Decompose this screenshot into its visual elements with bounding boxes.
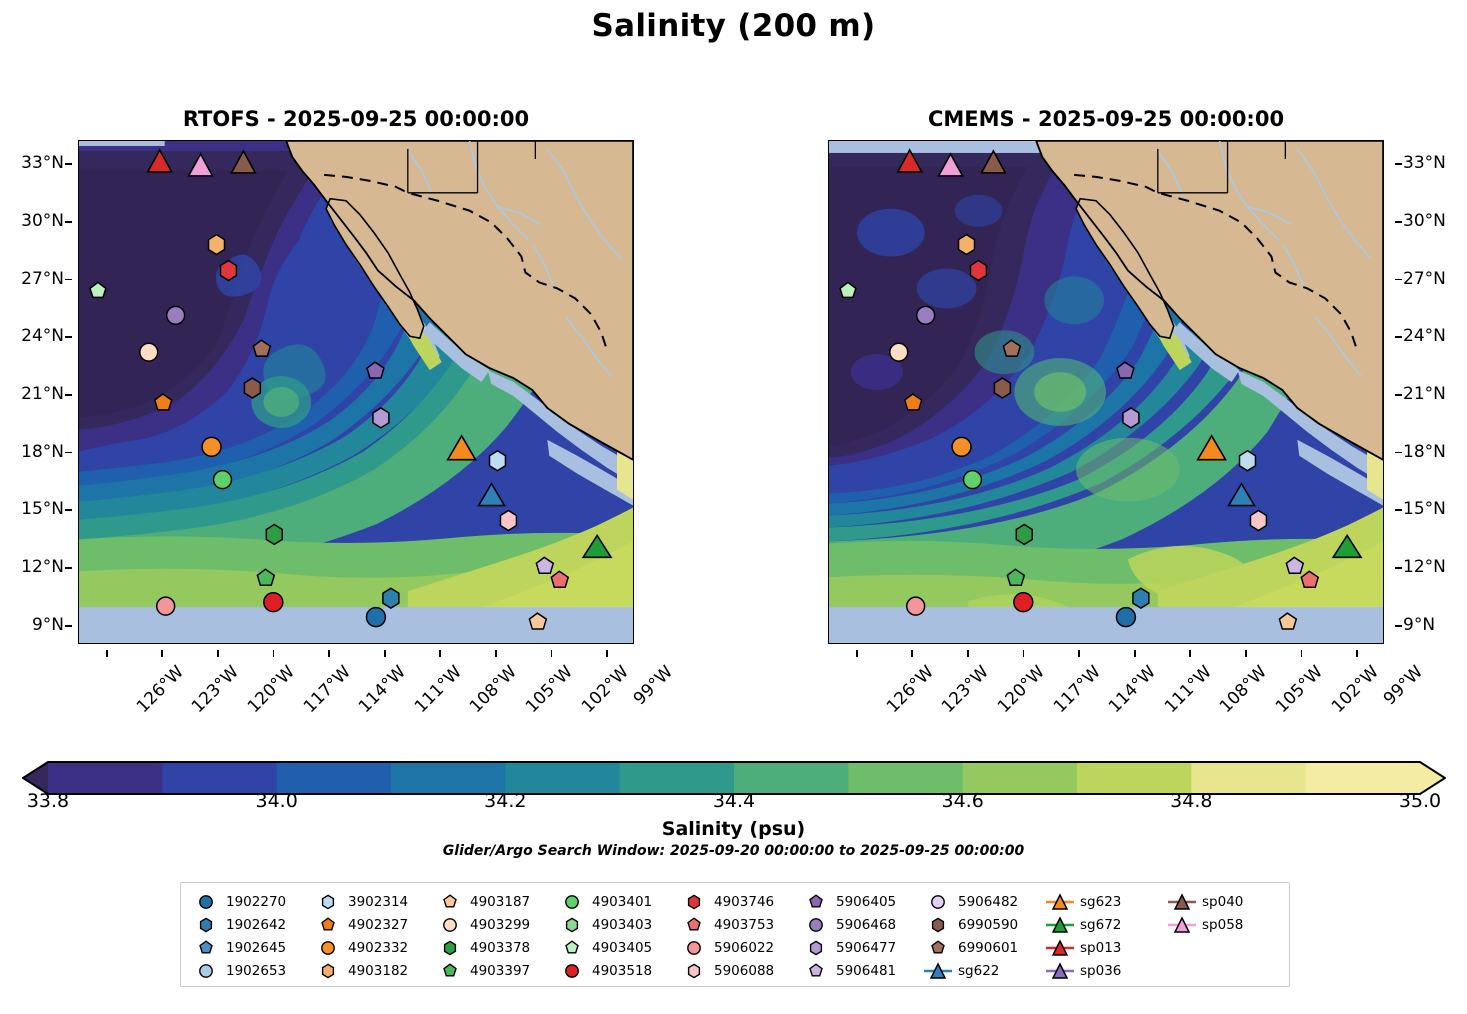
legend-item-label: sp013 — [1080, 940, 1121, 956]
legend-item-label: 5906477 — [836, 940, 896, 956]
marker-3902314 — [1240, 451, 1256, 471]
legend-item-label: 5906405 — [836, 894, 896, 910]
legend-item-label: 5906481 — [836, 963, 896, 979]
legend-item-3902314[interactable]: 3902314 — [309, 890, 431, 913]
xtick-mark — [1189, 650, 1191, 657]
map-rtofs-svg — [79, 141, 633, 643]
legend-item-1902642[interactable]: 1902642 — [187, 913, 309, 936]
ytick-mark — [65, 394, 72, 396]
marker-circle-icon — [923, 892, 953, 912]
legend-item-label: 4903753 — [714, 917, 774, 933]
marker-pentagon-icon — [557, 938, 587, 958]
ytick-mark — [65, 509, 72, 511]
legend-item-label: 5906468 — [836, 917, 896, 933]
marker-hexagon-icon — [313, 961, 343, 981]
legend-item-label: 4903518 — [592, 963, 652, 979]
ytick-label: 33°N — [21, 153, 64, 173]
xtick-label: 114°W — [1105, 662, 1160, 717]
colorbar-tick-label: 33.8 — [27, 790, 69, 812]
legend-item-5906477[interactable]: 5906477 — [797, 936, 919, 959]
legend-item-label: 4903187 — [470, 894, 530, 910]
marker-pentagon-icon — [801, 892, 831, 912]
xtick-label: 99°W — [1380, 662, 1427, 709]
ytick-mark — [1395, 567, 1402, 569]
legend-item-label: sp058 — [1202, 917, 1243, 933]
legend-item-label: sp036 — [1080, 963, 1121, 979]
marker-5906088 — [500, 511, 516, 531]
legend-item-label: 4903397 — [470, 963, 530, 979]
marker-4903182 — [209, 235, 225, 255]
legend-item-4903753[interactable]: 4903753 — [675, 913, 797, 936]
xtick-mark — [1356, 650, 1358, 657]
legend-item-5906022[interactable]: 5906022 — [675, 936, 797, 959]
marker-circle-icon — [679, 938, 709, 958]
legend-item-label: 4902332 — [348, 940, 408, 956]
marker-triangle-line-icon — [1045, 938, 1075, 958]
legend-item-label: 6990601 — [958, 940, 1018, 956]
ytick-label: 18°N — [1403, 442, 1446, 462]
legend-item-5906088[interactable]: 5906088 — [675, 959, 797, 982]
marker-hexagon-icon — [435, 938, 465, 958]
marker-4903401 — [964, 471, 982, 489]
xtick-label: 105°W — [1272, 662, 1327, 717]
legend-item-5906405[interactable]: 5906405 — [797, 890, 919, 913]
figure-canvas: Salinity (200 m) RTOFS - 2025-09-25 00:0… — [0, 0, 1467, 1014]
legend-item-1902270[interactable]: 1902270 — [187, 890, 309, 913]
xtick-mark — [856, 650, 858, 657]
legend-item-label: 5906088 — [714, 963, 774, 979]
marker-circle-icon — [313, 938, 343, 958]
yaxis-left: 33°N30°N27°N24°N21°N18°N15°N12°N9°N — [2, 140, 72, 644]
marker-4902332 — [202, 437, 221, 456]
xtick-label: 126°W — [883, 662, 938, 717]
ytick-mark — [1395, 336, 1402, 338]
legend-item-label: 1902653 — [226, 963, 286, 979]
xtick-mark — [1023, 650, 1025, 657]
ytick-mark — [1395, 452, 1402, 454]
legend-item-4903182[interactable]: 4903182 — [309, 959, 431, 982]
legend-item-4902327[interactable]: 4902327 — [309, 913, 431, 936]
legend-item-4903397[interactable]: 4903397 — [431, 959, 553, 982]
legend-item-label: 4903299 — [470, 917, 530, 933]
xtick-mark — [495, 650, 497, 657]
xtick-mark — [911, 650, 913, 657]
search-window-text: Glider/Argo Search Window: 2025-09-20 00… — [0, 843, 1467, 859]
marker-hexagon-icon — [679, 892, 709, 912]
marker-5906477 — [373, 408, 389, 428]
legend: 1902270190264219026451902653390231449023… — [180, 882, 1290, 987]
marker-hexagon-icon — [923, 915, 953, 935]
legend-item-4903518[interactable]: 4903518 — [553, 959, 675, 982]
xtick-label: 102°W — [1328, 662, 1383, 717]
marker-4903746 — [970, 261, 986, 281]
legend-item-label: sp040 — [1202, 894, 1243, 910]
xtick-label: 126°W — [133, 662, 188, 717]
xtick-label: 114°W — [355, 662, 410, 717]
ytick-label: 15°N — [21, 499, 64, 519]
ytick-label: 18°N — [21, 442, 64, 462]
ytick-label: 33°N — [1403, 153, 1446, 173]
ytick-mark — [1395, 221, 1402, 223]
marker-hexagon-icon — [801, 938, 831, 958]
legend-item-label: 1902645 — [226, 940, 286, 956]
legend-item-label: 4903378 — [470, 940, 530, 956]
page-title: Salinity (200 m) — [0, 8, 1467, 44]
xtick-mark — [328, 650, 330, 657]
marker-6990590 — [244, 378, 260, 398]
colorbar-tick-label: 34.8 — [1170, 790, 1212, 812]
marker-4903378 — [266, 524, 282, 544]
xtick-label: 123°W — [938, 662, 993, 717]
legend-item-sp040[interactable]: sp040 — [1163, 890, 1285, 913]
yaxis-right: 33°N30°N27°N24°N21°N18°N15°N12°N9°N — [1395, 140, 1465, 644]
legend-item-1902645[interactable]: 1902645 — [187, 936, 309, 959]
marker-3902314 — [490, 451, 506, 471]
marker-circle-icon — [435, 915, 465, 935]
marker-4903299 — [890, 343, 908, 361]
ytick-label: 21°N — [21, 384, 64, 404]
xtick-label: 105°W — [522, 662, 577, 717]
marker-pentagon-icon — [801, 961, 831, 981]
legend-item-1902653[interactable]: 1902653 — [187, 959, 309, 982]
marker-pentagon-icon — [313, 915, 343, 935]
ytick-mark — [1395, 163, 1402, 165]
xtick-mark — [967, 650, 969, 657]
legend-item-label: 1902270 — [226, 894, 286, 910]
marker-triangle-line-icon — [1045, 961, 1075, 981]
legend-item-4903401[interactable]: 4903401 — [553, 890, 675, 913]
marker-hexagon-icon — [313, 892, 343, 912]
legend-item-sg623[interactable]: sg623 — [1041, 890, 1163, 913]
legend-item-label: sg672 — [1080, 917, 1121, 933]
marker-circle-icon — [557, 892, 587, 912]
legend-item-4903299[interactable]: 4903299 — [431, 913, 553, 936]
ytick-label: 15°N — [1403, 499, 1446, 519]
marker-pentagon-icon — [435, 892, 465, 912]
marker-1902270 — [366, 608, 385, 627]
ytick-mark — [65, 625, 72, 627]
marker-triangle-line-icon — [1167, 915, 1197, 935]
xaxis-right: 126°W123°W120°W117°W114°W111°W108°W105°W… — [828, 650, 1384, 740]
legend-item-label: 4903403 — [592, 917, 652, 933]
legend-item-label: 5906482 — [958, 894, 1018, 910]
legend-item-label: 4903401 — [592, 894, 652, 910]
marker-triangle-line-icon — [923, 961, 953, 981]
legend-item-4903746[interactable]: 4903746 — [675, 890, 797, 913]
xtick-label: 108°W — [1216, 662, 1271, 717]
xtick-mark — [1134, 650, 1136, 657]
xtick-mark — [1301, 650, 1303, 657]
ytick-label: 30°N — [1403, 211, 1446, 231]
legend-item-sp036[interactable]: sp036 — [1041, 959, 1163, 982]
ytick-mark — [65, 279, 72, 281]
map-cmems-svg — [829, 141, 1383, 643]
marker-5906477 — [1123, 408, 1139, 428]
ytick-label: 21°N — [1403, 384, 1446, 404]
ytick-label: 27°N — [21, 269, 64, 289]
ytick-mark — [65, 567, 72, 569]
marker-circle-icon — [557, 961, 587, 981]
xtick-mark — [439, 650, 441, 657]
legend-item-label: 4903746 — [714, 894, 774, 910]
marker-4903182 — [959, 235, 975, 255]
colorbar-tick-label: 35.0 — [1399, 790, 1441, 812]
legend-item-label: 1902642 — [226, 917, 286, 933]
legend-item-label: 4902327 — [348, 917, 408, 933]
ytick-mark — [65, 221, 72, 223]
legend-item-6990590[interactable]: 6990590 — [919, 913, 1041, 936]
xtick-label: 117°W — [1050, 662, 1105, 717]
xtick-mark — [161, 650, 163, 657]
legend-item-label: 3902314 — [348, 894, 408, 910]
legend-item-label: 6990590 — [958, 917, 1018, 933]
xtick-label: 111°W — [1161, 662, 1216, 717]
ytick-mark — [1395, 625, 1402, 627]
marker-5906468 — [917, 306, 935, 324]
xtick-label: 102°W — [578, 662, 633, 717]
marker-hexagon-icon — [679, 961, 709, 981]
xtick-mark — [217, 650, 219, 657]
marker-triangle-line-icon — [1045, 892, 1075, 912]
xtick-mark — [273, 650, 275, 657]
legend-item-label: 4903405 — [592, 940, 652, 956]
legend-item-sg622[interactable]: sg622 — [919, 959, 1041, 982]
ytick-mark — [1395, 394, 1402, 396]
colorbar-tick-label: 34.6 — [942, 790, 984, 812]
marker-circle-icon — [191, 892, 221, 912]
legend-item-4902332[interactable]: 4902332 — [309, 936, 431, 959]
ytick-label: 9°N — [32, 615, 64, 635]
marker-hexagon-icon — [557, 915, 587, 935]
map-rtofs[interactable] — [78, 140, 634, 644]
marker-pentagon-icon — [191, 938, 221, 958]
ytick-mark — [65, 336, 72, 338]
marker-4903518 — [1014, 593, 1033, 612]
ytick-mark — [1395, 509, 1402, 511]
legend-item-5906481[interactable]: 5906481 — [797, 959, 919, 982]
ytick-label: 27°N — [1403, 269, 1446, 289]
xtick-mark — [551, 650, 553, 657]
ytick-mark — [1395, 279, 1402, 281]
marker-4903378 — [1016, 524, 1032, 544]
legend-item-sg672[interactable]: sg672 — [1041, 913, 1163, 936]
legend-item-5906482[interactable]: 5906482 — [919, 890, 1041, 913]
marker-4902332 — [952, 437, 971, 456]
marker-4903518 — [264, 593, 283, 612]
marker-1902270 — [1116, 608, 1135, 627]
marker-4903299 — [140, 343, 158, 361]
legend-item-sp058[interactable]: sp058 — [1163, 913, 1285, 936]
legend-item-label: sg622 — [958, 963, 999, 979]
legend-item-label: 4903182 — [348, 963, 408, 979]
marker-1902642 — [1133, 588, 1149, 608]
marker-5906022 — [907, 597, 925, 615]
marker-triangle-line-icon — [1167, 892, 1197, 912]
xtick-label: 120°W — [244, 662, 299, 717]
ytick-label: 24°N — [21, 326, 64, 346]
map-cmems[interactable] — [828, 140, 1384, 644]
marker-circle-icon — [801, 915, 831, 935]
marker-5906088 — [1250, 511, 1266, 531]
panel-cmems-title: CMEMS - 2025-09-25 00:00:00 — [828, 107, 1384, 131]
marker-circle-icon — [191, 961, 221, 981]
panel-rtofs-title: RTOFS - 2025-09-25 00:00:00 — [78, 107, 634, 131]
legend-item-label: 5906022 — [714, 940, 774, 956]
xtick-mark — [1078, 650, 1080, 657]
xtick-mark — [606, 650, 608, 657]
xtick-mark — [1245, 650, 1247, 657]
legend-item-label: sg623 — [1080, 894, 1121, 910]
colorbar-tick-label: 34.4 — [713, 790, 755, 812]
marker-5906022 — [157, 597, 175, 615]
xtick-label: 117°W — [300, 662, 355, 717]
legend-item-5906468[interactable]: 5906468 — [797, 913, 919, 936]
colorbar-label: Salinity (psu) — [0, 818, 1467, 840]
xtick-mark — [384, 650, 386, 657]
marker-1902642 — [383, 588, 399, 608]
legend-item-4903187[interactable]: 4903187 — [431, 890, 553, 913]
ytick-label: 9°N — [1403, 615, 1435, 635]
legend-item-4903378[interactable]: 4903378 — [431, 936, 553, 959]
marker-4903401 — [214, 471, 232, 489]
marker-5906468 — [167, 306, 185, 324]
ytick-mark — [65, 452, 72, 454]
panel-rtofs: RTOFS - 2025-09-25 00:00:00 — [78, 140, 634, 644]
xtick-label: 108°W — [466, 662, 521, 717]
marker-pentagon-icon — [679, 915, 709, 935]
ytick-label: 24°N — [1403, 326, 1446, 346]
legend-item-sp013[interactable]: sp013 — [1041, 936, 1163, 959]
xtick-label: 99°W — [630, 662, 677, 709]
xaxis-left: 126°W123°W120°W117°W114°W111°W108°W105°W… — [78, 650, 634, 740]
ytick-mark — [65, 163, 72, 165]
xtick-label: 111°W — [411, 662, 466, 717]
marker-6990590 — [994, 378, 1010, 398]
marker-hexagon-icon — [191, 915, 221, 935]
xtick-label: 120°W — [994, 662, 1049, 717]
marker-triangle-line-icon — [1045, 915, 1075, 935]
legend-item-6990601[interactable]: 6990601 — [919, 936, 1041, 959]
colorbar-ticks: 33.834.034.234.434.634.835.0 — [22, 790, 1446, 818]
ytick-label: 12°N — [21, 557, 64, 577]
legend-item-4903405[interactable]: 4903405 — [553, 936, 675, 959]
xtick-label: 123°W — [188, 662, 243, 717]
panel-cmems: CMEMS - 2025-09-25 00:00:00 — [828, 140, 1384, 644]
xtick-mark — [106, 650, 108, 657]
marker-pentagon-icon — [435, 961, 465, 981]
ytick-label: 12°N — [1403, 557, 1446, 577]
colorbar-tick-label: 34.2 — [484, 790, 526, 812]
marker-pentagon-icon — [923, 938, 953, 958]
ytick-label: 30°N — [21, 211, 64, 231]
legend-item-4903403[interactable]: 4903403 — [553, 913, 675, 936]
colorbar-tick-label: 34.0 — [256, 790, 298, 812]
marker-4903746 — [220, 261, 236, 281]
